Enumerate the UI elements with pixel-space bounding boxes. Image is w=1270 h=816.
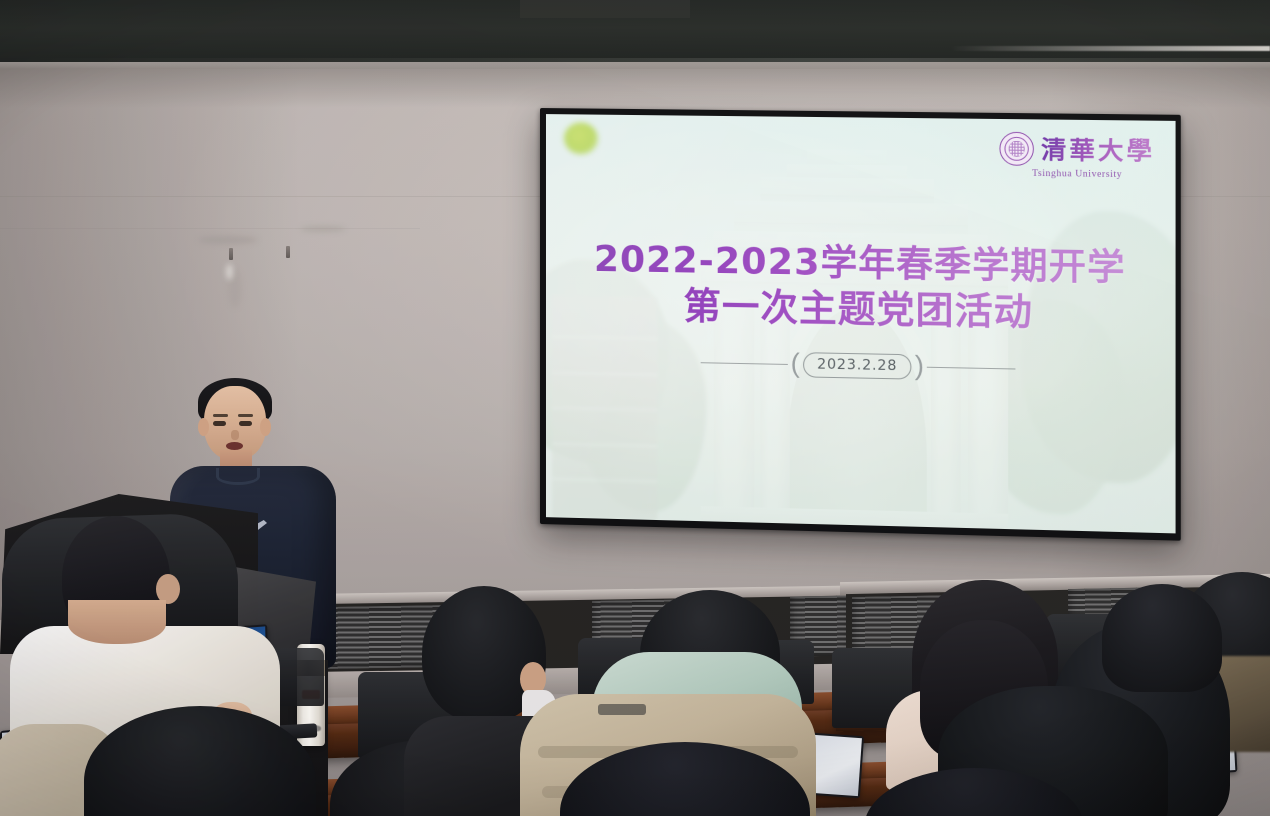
wall-scuff xyxy=(198,236,258,244)
presenter-eye xyxy=(239,421,252,426)
presenter-ear xyxy=(198,418,209,436)
wall-hook-icon xyxy=(229,248,233,260)
wall-mark xyxy=(226,264,233,280)
coat-logo-icon xyxy=(598,704,646,715)
audience-neck xyxy=(68,600,166,644)
tsinghua-logo: 清華大學 Tsinghua University xyxy=(999,132,1155,181)
date-rule-left xyxy=(700,362,787,365)
soffit-notch xyxy=(520,0,690,18)
projection-screen[interactable]: 清華大學 Tsinghua University 2022-2023学年春季学期… xyxy=(540,108,1181,541)
logo-name-en: Tsinghua University xyxy=(1032,169,1122,180)
audience-head xyxy=(1102,584,1222,692)
audience-member xyxy=(560,742,810,816)
ceiling-soffit xyxy=(0,0,1270,62)
presenter-collar xyxy=(216,468,260,485)
presenter-brow xyxy=(238,414,253,417)
tsinghua-seal-icon xyxy=(999,132,1033,166)
audience-member xyxy=(84,706,324,816)
presenter-mouth xyxy=(226,442,243,450)
presenter-eye xyxy=(213,421,226,426)
slide-canvas: 清華大學 Tsinghua University 2022-2023学年春季学期… xyxy=(546,114,1176,533)
ceiling-light-strip xyxy=(950,46,1270,51)
logo-name-cn: 清華大學 xyxy=(1040,137,1154,163)
presenter-brow xyxy=(213,414,228,417)
audience-head xyxy=(864,768,1084,816)
lecture-hall-scene: 清華大學 Tsinghua University 2022-2023学年春季学期… xyxy=(0,0,1270,816)
soffit-slope-shadow xyxy=(0,62,1270,108)
audience-head xyxy=(84,706,316,816)
audience-member xyxy=(1102,584,1232,704)
audience-head xyxy=(560,742,810,816)
presenter-ear xyxy=(260,418,271,436)
wall-hook-icon xyxy=(286,246,290,258)
date-rule-right xyxy=(927,366,1016,369)
date-paren-right: ) xyxy=(912,352,927,380)
audience-member xyxy=(864,768,1084,816)
wall-seam xyxy=(0,228,420,229)
slide-title-block: 2022-2023学年春季学期开学 第一次主题党团活动 xyxy=(546,237,1176,338)
date-paren-left: ( xyxy=(788,350,803,378)
presenter-nose xyxy=(231,430,239,440)
wall-scuff xyxy=(300,226,346,232)
slide-date-badge: 2023.2.28 xyxy=(803,352,912,379)
